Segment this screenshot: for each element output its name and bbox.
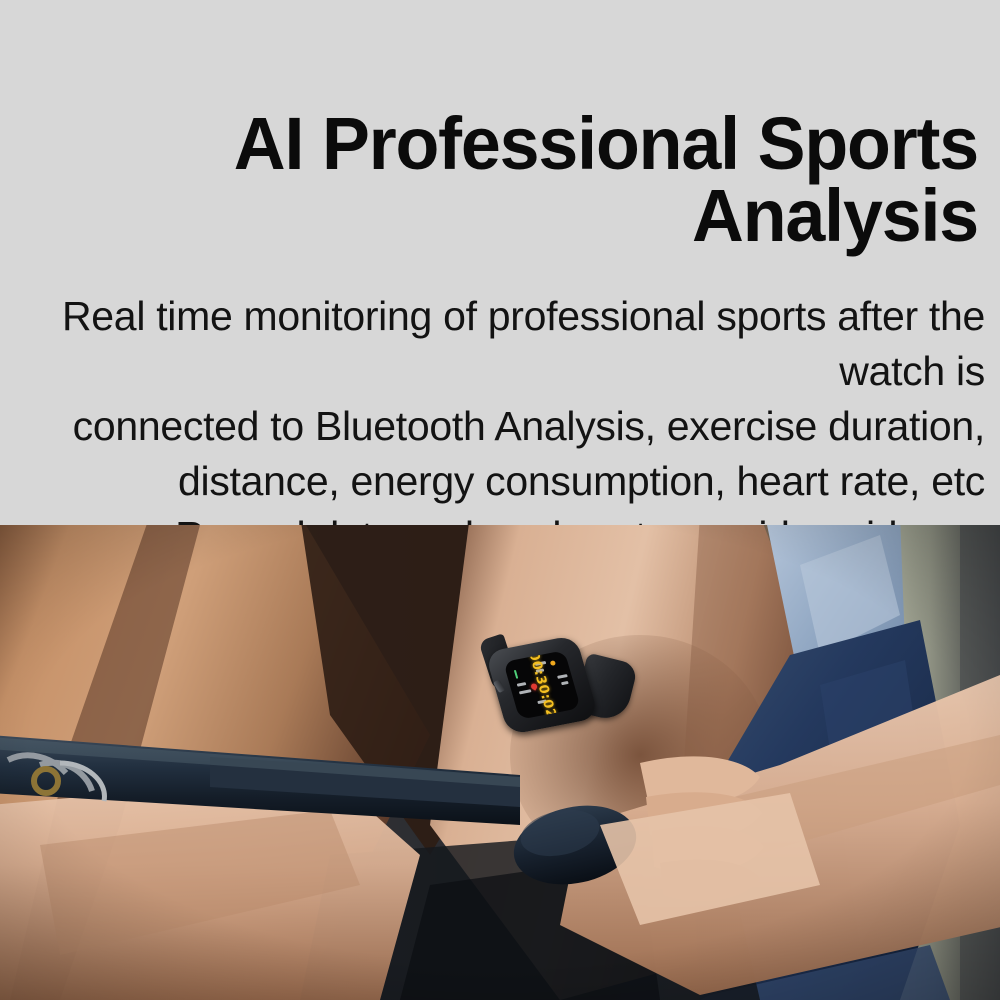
product-feature-page: AI Professional Sports Analysis Real tim… (0, 0, 1000, 1000)
page-title: AI Professional Sports Analysis (29, 108, 978, 252)
lifestyle-photo (0, 525, 1000, 1000)
marketing-text-panel: AI Professional Sports Analysis Real tim… (0, 0, 1000, 525)
photo-illustration (0, 525, 1000, 1000)
feature-description: Real time monitoring of professional spo… (10, 289, 985, 525)
